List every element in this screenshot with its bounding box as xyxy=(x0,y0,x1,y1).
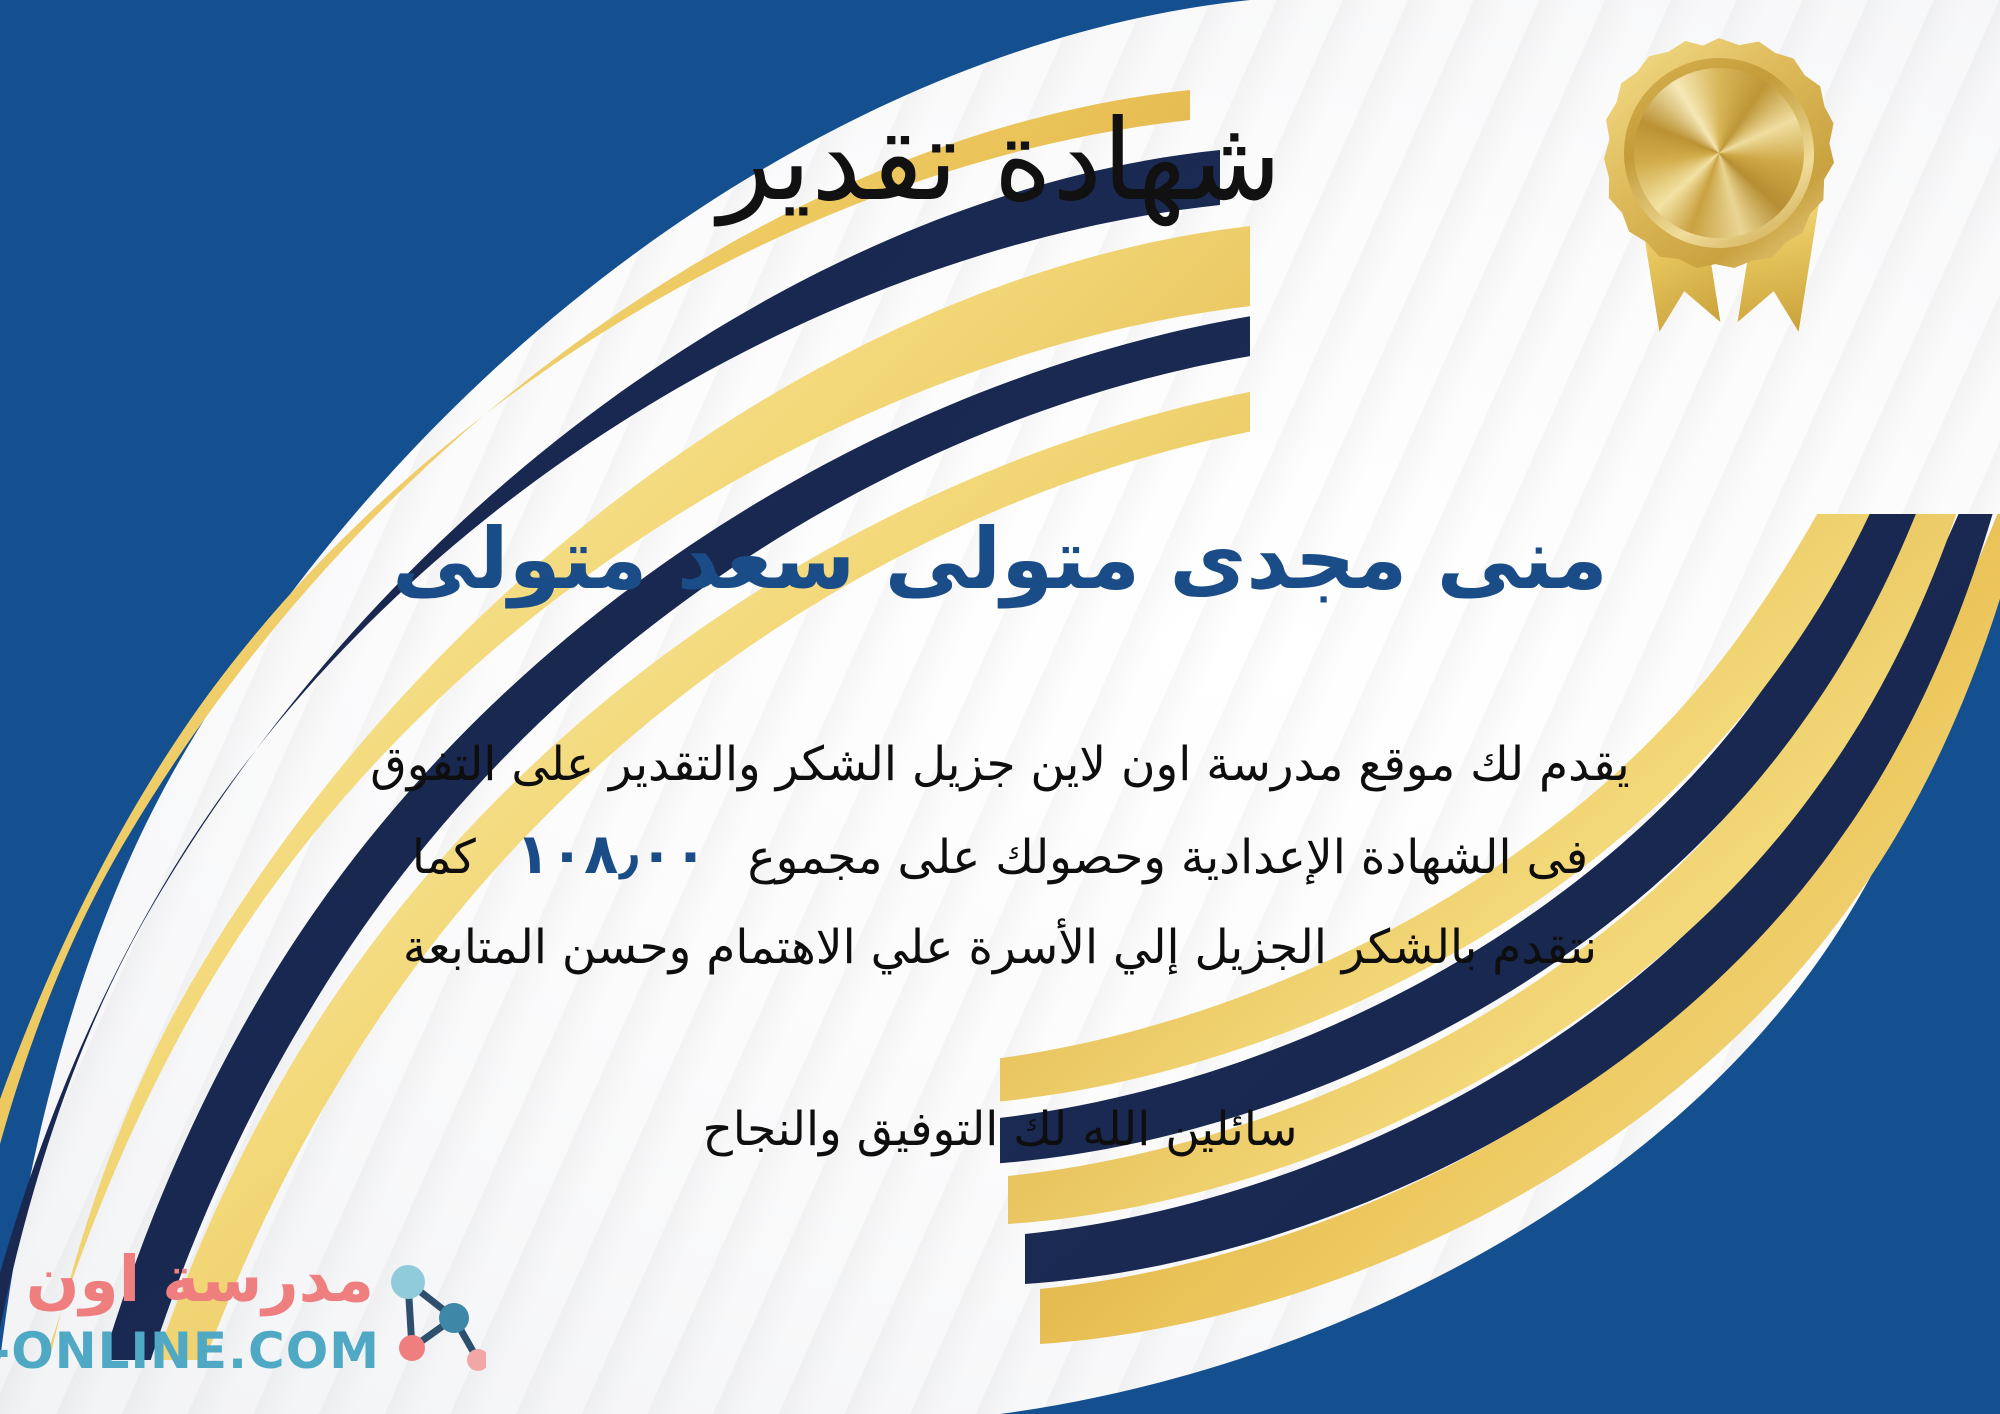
recipient-name: منى مجدى متولى سعد متولى xyxy=(170,510,1830,608)
body-line-3: نتقدم بالشكر الجزيل إلي الأسرة علي الاهت… xyxy=(130,903,1870,993)
certificate-body: يقدم لك موقع مدرسة اون لاين جزيل الشكر و… xyxy=(130,720,1870,993)
body-line-2: فى الشهادة الإعدادية وحصولك على مجموع١٠٨… xyxy=(130,810,1870,903)
site-logo[interactable]: مدرسة اون لاين MADRSA-ONLINE.COM xyxy=(22,1242,492,1392)
logo-brand-url: MADRSA-ONLINE.COM xyxy=(0,1326,380,1376)
logo-brand-arabic: مدرسة اون لاين xyxy=(0,1248,374,1311)
closing-wish: سائلين الله لك التوفيق والنجاح xyxy=(130,1090,1870,1170)
network-nodes-icon xyxy=(382,1256,486,1374)
certificate-canvas: شهادة تقدير منى مجدى متولى سعد متولى يقد… xyxy=(0,0,2000,1414)
total-score-value: ١٠٨٫٠٠ xyxy=(476,810,748,900)
body-line-2-suffix: كما xyxy=(412,830,476,885)
body-line-1: يقدم لك موقع مدرسة اون لاين جزيل الشكر و… xyxy=(130,720,1870,810)
page-title: شهادة تقدير xyxy=(0,96,2000,226)
body-line-2-prefix: فى الشهادة الإعدادية وحصولك على مجموع xyxy=(748,830,1589,885)
